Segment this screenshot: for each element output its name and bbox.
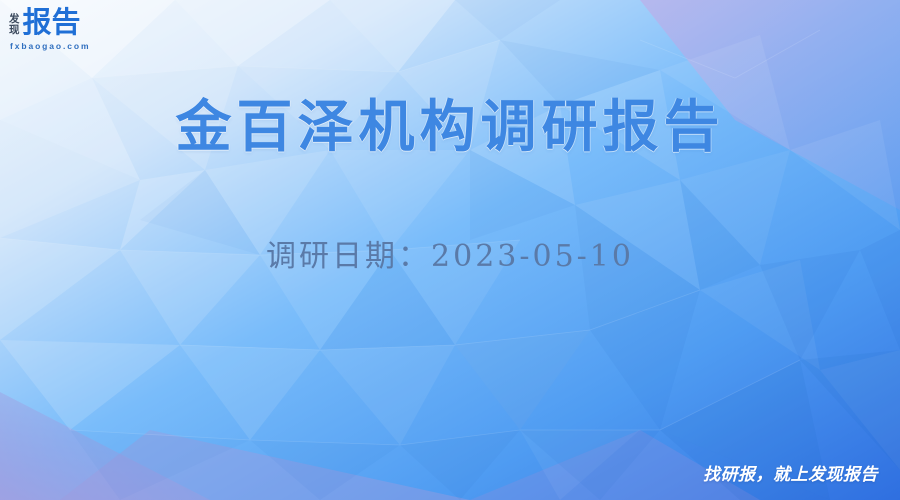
- logo-wordmark: 报告: [23, 9, 81, 38]
- page-title: 金百泽机构调研报告: [0, 92, 900, 162]
- survey-date: 调研日期：2023-05-10: [0, 237, 900, 277]
- logo-mark-char-2: 现: [9, 25, 20, 36]
- footer-slogan: 找研报，就上发现报告: [703, 464, 878, 486]
- logo-url: fxbaogao.com: [10, 42, 90, 51]
- logo-wordmark-row: 发 现 报告: [9, 9, 81, 38]
- brand-logo[interactable]: 发 现 报告 fxbaogao.com: [9, 9, 90, 51]
- logo-mark-stack: 发 现: [9, 14, 20, 38]
- report-cover: 发 现 报告 fxbaogao.com 金百泽机构调研报告 调研日期：2023-…: [0, 0, 900, 500]
